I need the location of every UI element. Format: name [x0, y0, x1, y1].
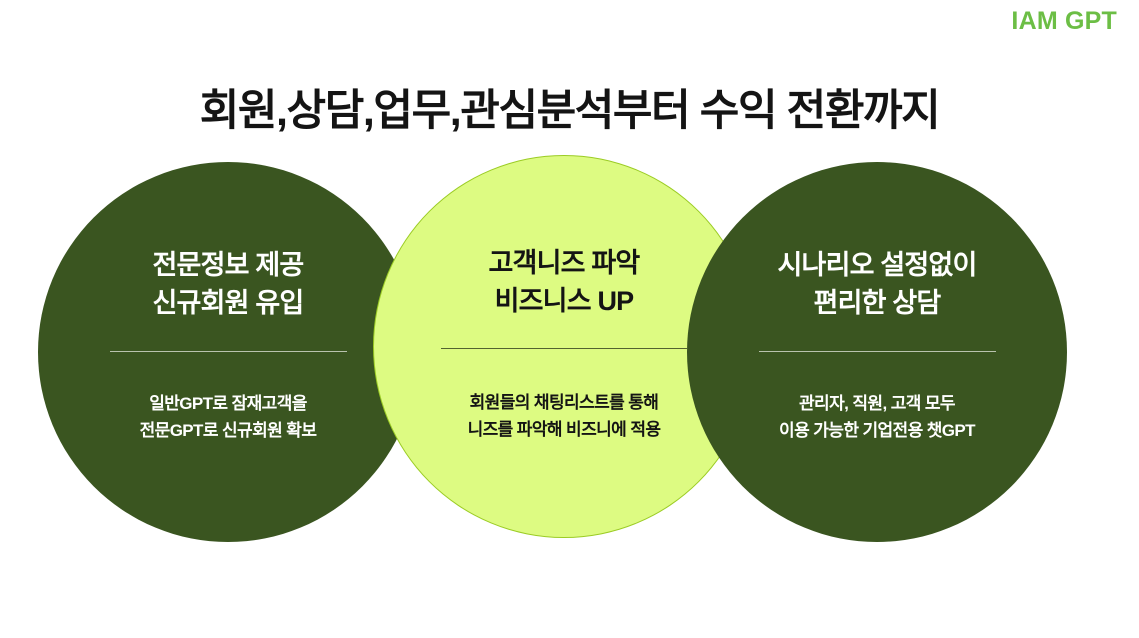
pillar-easy-consulting: 시나리오 설정없이 편리한 상담 관리자, 직원, 고객 모두 이용 가능한 기…: [687, 162, 1067, 542]
pillar-title: 고객니즈 파악 비즈니스 UP: [489, 244, 640, 321]
pillar-divider: [110, 351, 347, 352]
pillar-title: 전문정보 제공 신규회원 유입: [153, 246, 304, 323]
pillar-body: 회원들의 채팅리스트를 통해 니즈를 파악해 비즈니에 적용: [468, 389, 661, 444]
slide-canvas: IAM GPT 회원,상담,업무,관심분석부터 수익 전환까지 전문정보 제공 …: [0, 0, 1139, 638]
pillar-divider: [759, 351, 996, 352]
pillar-body: 일반GPT로 잠재고객을 전문GPT로 신규회원 확보: [140, 390, 317, 445]
pillar-title: 시나리오 설정없이 편리한 상담: [777, 246, 976, 323]
pillar-group: 전문정보 제공 신규회원 유입 일반GPT로 잠재고객을 전문GPT로 신규회원…: [0, 0, 1139, 638]
pillar-lead-generation: 전문정보 제공 신규회원 유입 일반GPT로 잠재고객을 전문GPT로 신규회원…: [38, 162, 418, 542]
pillar-body: 관리자, 직원, 고객 모두 이용 가능한 기업전용 챗GPT: [779, 390, 975, 445]
pillar-divider: [441, 348, 687, 349]
